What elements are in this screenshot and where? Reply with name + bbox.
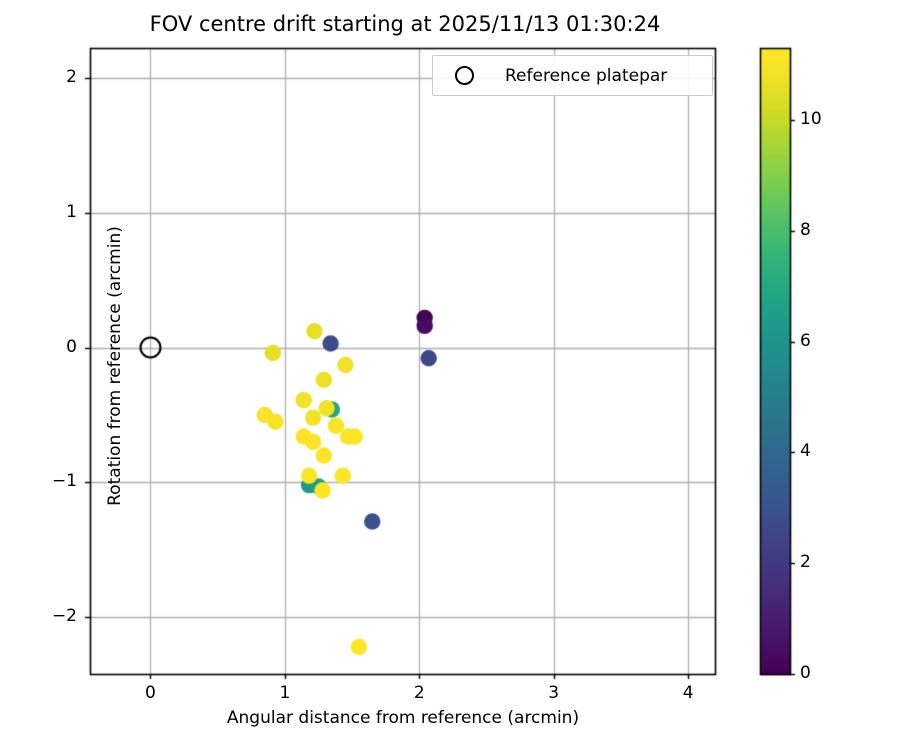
legend-entry-label: Reference platepar [505, 66, 667, 86]
scatter-plot-canvas[interactable] [0, 0, 900, 750]
chart-figure: FOV centre drift starting at 2025/11/13 … [0, 0, 900, 750]
legend-marker-open-circle-icon [455, 66, 474, 85]
legend[interactable]: Reference platepar [432, 55, 713, 96]
